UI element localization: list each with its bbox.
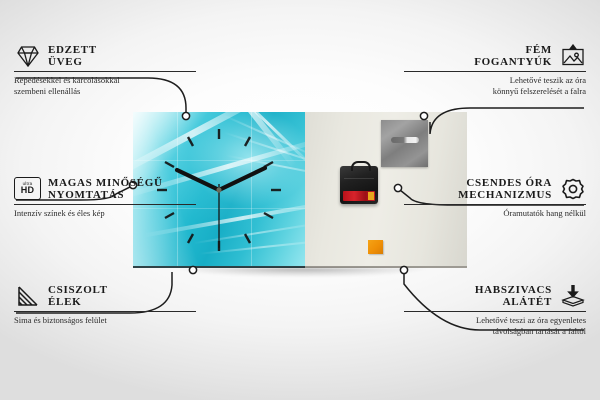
ultra-hd-icon: ultra HD <box>14 175 41 202</box>
feature-title-line2: FOGANTYÚK <box>474 56 552 68</box>
feature-desc-line1: Intenzív színek és éles kép <box>14 208 196 219</box>
battery-terminal <box>368 192 374 200</box>
mechanism-seam <box>344 178 374 179</box>
hd-icon-main-text: HD <box>21 186 34 195</box>
feature-title: FÉM FOGANTYÚK <box>474 44 552 68</box>
feature-desc-line1: Óramutatók hang nélkül <box>404 208 586 219</box>
feature-title-line1: EDZETT <box>48 44 97 56</box>
feature-divider <box>404 204 586 205</box>
feature-desc-line1: Lehetővé teszi az óra egyenletes <box>404 315 586 326</box>
mechanism-handle <box>351 161 371 171</box>
feature-silent-mechanism: CSENDES ÓRA MECHANIZMUS Óramutatók hang … <box>404 175 586 219</box>
feature-divider <box>404 71 586 72</box>
feature-title-line1: HABSZIVACS <box>475 284 552 296</box>
feature-title-line1: FÉM <box>474 44 552 56</box>
feature-divider <box>404 311 586 312</box>
battery-compartment <box>343 191 375 201</box>
feature-desc-line1: Repedésekkel és karcolásokkal <box>14 75 196 86</box>
feature-tempered-glass: EDZETT ÜVEG Repedésekkel és karcolásokka… <box>14 42 196 96</box>
feature-desc-line1: Lehetővé teszik az óra <box>404 75 586 86</box>
feature-title: EDZETT ÜVEG <box>48 44 97 68</box>
feature-title-line1: CSISZOLT <box>48 284 108 296</box>
feature-title-line1: MAGAS MINŐSÉGŰ <box>48 177 163 189</box>
product-shadow <box>137 268 467 280</box>
feature-desc-line1: Sima és biztonságos felület <box>14 315 196 326</box>
hanger-slot <box>391 137 419 143</box>
feature-heading: HABSZIVACS ALÁTÉT <box>404 282 586 309</box>
clock-mechanism <box>340 166 378 204</box>
feature-title: CSISZOLT ÉLEK <box>48 284 108 308</box>
infographic-canvas: EDZETT ÜVEG Repedésekkel és karcolásokka… <box>0 0 600 400</box>
feature-title-line1: CSENDES ÓRA <box>458 177 552 189</box>
feature-title-line2: NYOMTATÁS <box>48 189 163 201</box>
feature-high-quality-print: ultra HD MAGAS MINŐSÉGŰ NYOMTATÁS Intenz… <box>14 175 196 219</box>
feature-title-line2: ÜVEG <box>48 56 97 68</box>
feature-heading: FÉM FOGANTYÚK <box>404 42 586 69</box>
feature-heading: CSISZOLT ÉLEK <box>14 282 196 309</box>
feature-title-line2: MECHANIZMUS <box>458 189 552 201</box>
feature-title: HABSZIVACS ALÁTÉT <box>475 284 552 308</box>
feature-divider <box>14 204 196 205</box>
feature-heading: CSENDES ÓRA MECHANIZMUS <box>404 175 586 202</box>
picture-hanger-icon <box>559 42 586 69</box>
feature-desc-line2: szembeni ellenállás <box>14 86 196 97</box>
feature-desc-line2: könnyű felszerelését a falra <box>404 86 586 97</box>
feature-title: MAGAS MINŐSÉGŰ NYOMTATÁS <box>48 177 163 201</box>
gear-icon <box>559 175 586 202</box>
feature-title-line2: ALÁTÉT <box>475 296 552 308</box>
metal-hanger-plate <box>381 120 428 167</box>
feature-heading: EDZETT ÜVEG <box>14 42 196 69</box>
feature-desc-line2: távolságban tartását a faltól <box>404 326 586 337</box>
feature-metal-handles: FÉM FOGANTYÚK Lehetővé teszik az óra kön… <box>404 42 586 96</box>
feature-foam-pad: HABSZIVACS ALÁTÉT Lehetővé teszi az óra … <box>404 282 586 336</box>
polished-edge-icon <box>14 282 41 309</box>
feature-heading: ultra HD MAGAS MINŐSÉGŰ NYOMTATÁS <box>14 175 196 202</box>
press-pad-icon <box>559 282 586 309</box>
feature-divider <box>14 311 196 312</box>
feature-polished-edges: CSISZOLT ÉLEK Sima és biztonságos felüle… <box>14 282 196 326</box>
feature-title: CSENDES ÓRA MECHANIZMUS <box>458 177 552 201</box>
feature-divider <box>14 71 196 72</box>
diamond-icon <box>14 42 41 69</box>
feature-title-line2: ÉLEK <box>48 296 108 308</box>
foam-pad-sticker <box>368 240 383 254</box>
